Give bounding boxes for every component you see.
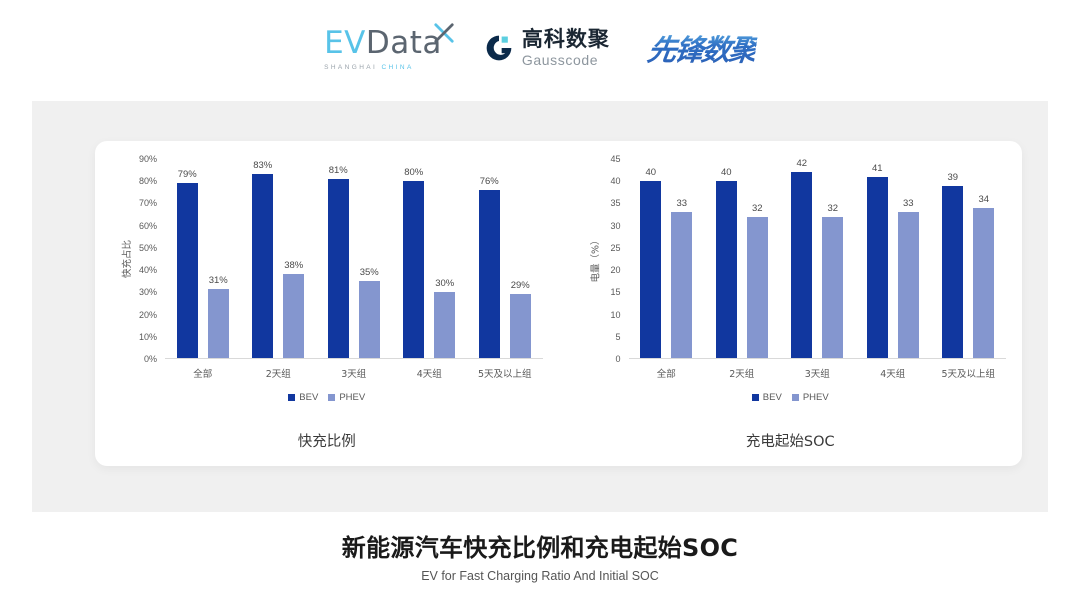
bar-value-label: 40 xyxy=(721,167,732,178)
bar-value-label: 38% xyxy=(284,260,303,271)
bar-value-label: 32 xyxy=(827,203,838,214)
bar-value-label: 83% xyxy=(253,160,272,171)
bar-value-label: 34 xyxy=(978,194,989,205)
charts-container: 快充占比 90%80%70%60%50%40%30%20%10%0% 79%31… xyxy=(95,141,1022,466)
bar-group: 4232 xyxy=(780,159,856,358)
bar-phev[interactable]: 35% xyxy=(359,159,380,358)
legend-label-phev: PHEV xyxy=(803,392,829,403)
evdata-sublabel-china: CHINA xyxy=(381,64,413,71)
x-labels-left: 全部2天组3天组4天组5天及以上组 xyxy=(165,366,543,380)
bar-bev[interactable]: 79% xyxy=(177,159,198,358)
bar-phev[interactable]: 29% xyxy=(510,159,531,358)
xianfeng-shuju-logo: 先锋数聚 xyxy=(645,27,759,69)
chart-plot-area-left: 快充占比 90%80%70%60%50%40%30%20%10%0% 79%31… xyxy=(105,159,549,359)
x-axis-label: 2天组 xyxy=(241,366,317,380)
bar-value-label: 42 xyxy=(796,158,807,169)
y-tick-label: 70% xyxy=(139,198,157,208)
legend-swatch-phev-icon xyxy=(328,394,335,401)
legend-item-bev[interactable]: BEV xyxy=(752,392,782,403)
bar-rect xyxy=(403,181,424,358)
bar-value-label: 40 xyxy=(645,167,656,178)
legend-label-phev: PHEV xyxy=(339,392,365,403)
y-tick-label: 40% xyxy=(139,265,157,275)
gausscode-wordmark: 高科数聚 Gausscode xyxy=(522,29,610,67)
bar-value-label: 76% xyxy=(480,176,499,187)
bar-rect xyxy=(434,292,455,358)
gausscode-logo: 高科数聚 Gausscode xyxy=(484,29,610,67)
header-logo-bar: EVData SHANGHAI CHINA 高科数聚 Gausscode 先锋数… xyxy=(0,0,1080,96)
y-tick-label: 40 xyxy=(610,176,620,186)
evdata-word-ev: EV xyxy=(324,28,366,59)
legend-left: BEV PHEV xyxy=(105,392,549,403)
bar-rect xyxy=(252,174,273,358)
bar-bev[interactable]: 83% xyxy=(252,159,273,358)
bar-rect xyxy=(973,208,994,358)
y-tick-label: 5 xyxy=(615,332,620,342)
bar-bev[interactable]: 40 xyxy=(716,159,737,358)
y-tick-label: 35 xyxy=(610,198,620,208)
legend-label-bev: BEV xyxy=(763,392,782,403)
evdata-logo: EVData SHANGHAI CHINA xyxy=(324,26,442,71)
bar-group: 3934 xyxy=(931,159,1007,358)
bar-group: 83%38% xyxy=(241,159,317,358)
page-title: 新能源汽车快充比例和充电起始SOC xyxy=(0,528,1080,563)
x-axis-label: 3天组 xyxy=(780,366,856,380)
evdata-x-icon xyxy=(433,22,455,44)
gausscode-g-icon xyxy=(484,33,514,63)
chart-caption-right: 充电起始SOC xyxy=(569,430,1013,451)
bar-group: 4033 xyxy=(629,159,705,358)
legend-swatch-phev-icon xyxy=(792,394,799,401)
x-axis-label: 5天及以上组 xyxy=(467,366,543,380)
y-tick-label: 10 xyxy=(610,310,620,320)
bar-rect xyxy=(791,172,812,358)
legend-item-bev[interactable]: BEV xyxy=(288,392,318,403)
bar-bev[interactable]: 81% xyxy=(328,159,349,358)
chart-plot-area-right: 电量（%） 454035302520151050 403340324232413… xyxy=(569,159,1013,359)
bar-group: 81%35% xyxy=(316,159,392,358)
legend-swatch-bev-icon xyxy=(288,394,295,401)
bar-rect xyxy=(942,186,963,358)
bar-value-label: 32 xyxy=(752,203,763,214)
bar-group: 80%30% xyxy=(392,159,468,358)
bar-bev[interactable]: 40 xyxy=(640,159,661,358)
evdata-sublabel-shanghai: SHANGHAI xyxy=(324,64,377,71)
x-axis-label: 4天组 xyxy=(392,366,468,380)
bar-groups-right: 40334032423241333934 xyxy=(629,159,1007,358)
gausscode-cn-name: 高科数聚 xyxy=(522,29,610,50)
bar-rect xyxy=(359,281,380,358)
y-tick-label: 20 xyxy=(610,265,620,275)
bar-value-label: 35% xyxy=(360,267,379,278)
bar-rect xyxy=(822,217,843,359)
y-tick-label: 45 xyxy=(610,154,620,164)
bar-value-label: 29% xyxy=(511,280,530,291)
bar-phev[interactable]: 34 xyxy=(973,159,994,358)
bars-plot-right: 40334032423241333934 xyxy=(629,159,1007,359)
chart-fast-charging-ratio: 快充占比 90%80%70%60%50%40%30%20%10%0% 79%31… xyxy=(95,141,559,466)
y-tick-label: 30 xyxy=(610,221,620,231)
y-tick-label: 60% xyxy=(139,221,157,231)
chart-caption-left: 快充比例 xyxy=(105,430,549,451)
legend-swatch-bev-icon xyxy=(752,394,759,401)
bar-rect xyxy=(479,190,500,358)
y-tick-label: 90% xyxy=(139,154,157,164)
bar-groups-left: 79%31%83%38%81%35%80%30%76%29% xyxy=(165,159,543,358)
bar-rect xyxy=(510,294,531,358)
bar-rect xyxy=(328,179,349,358)
bar-bev[interactable]: 41 xyxy=(867,159,888,358)
bar-value-label: 41 xyxy=(872,163,883,174)
bar-phev[interactable]: 31% xyxy=(208,159,229,358)
charts-panel: 快充占比 90%80%70%60%50%40%30%20%10%0% 79%31… xyxy=(32,101,1048,512)
bar-rect xyxy=(283,274,304,358)
bar-value-label: 79% xyxy=(178,169,197,180)
bar-group: 79%31% xyxy=(165,159,241,358)
bar-group: 76%29% xyxy=(467,159,543,358)
chart-initial-soc: 电量（%） 454035302520151050 403340324232413… xyxy=(559,141,1023,466)
bar-value-label: 30% xyxy=(435,278,454,289)
bar-bev[interactable]: 80% xyxy=(403,159,424,358)
x-axis-label: 4天组 xyxy=(855,366,931,380)
evdata-wordmark: EVData xyxy=(324,28,442,59)
bar-phev[interactable]: 33 xyxy=(898,159,919,358)
y-tick-label: 25 xyxy=(610,243,620,253)
bar-rect xyxy=(898,212,919,358)
bar-rect xyxy=(671,212,692,358)
bar-group: 4032 xyxy=(704,159,780,358)
bar-bev[interactable]: 76% xyxy=(479,159,500,358)
bar-rect xyxy=(716,181,737,358)
bar-group: 4133 xyxy=(855,159,931,358)
x-axis-label: 全部 xyxy=(629,366,705,380)
y-tick-label: 15 xyxy=(610,287,620,297)
bar-rect xyxy=(747,217,768,359)
footer-titles: 新能源汽车快充比例和充电起始SOC EV for Fast Charging R… xyxy=(0,528,1080,583)
x-labels-right: 全部2天组3天组4天组5天及以上组 xyxy=(629,366,1007,380)
evdata-sublabel: SHANGHAI CHINA xyxy=(324,64,414,71)
bars-plot-left: 79%31%83%38%81%35%80%30%76%29% xyxy=(165,159,543,359)
bar-phev[interactable]: 38% xyxy=(283,159,304,358)
bar-rect xyxy=(640,181,661,358)
bar-rect xyxy=(208,289,229,358)
y-tick-label: 20% xyxy=(139,310,157,320)
bar-value-label: 39 xyxy=(947,172,958,183)
legend-right: BEV PHEV xyxy=(569,392,1013,403)
legend-item-phev[interactable]: PHEV xyxy=(792,392,829,403)
bar-bev[interactable]: 42 xyxy=(791,159,812,358)
bar-rect xyxy=(867,177,888,358)
bar-value-label: 31% xyxy=(209,275,228,286)
gausscode-en-name: Gausscode xyxy=(522,53,610,67)
bar-bev[interactable]: 39 xyxy=(942,159,963,358)
bar-value-label: 33 xyxy=(903,198,914,209)
bar-value-label: 33 xyxy=(676,198,687,209)
x-axis-label: 3天组 xyxy=(316,366,392,380)
bar-value-label: 81% xyxy=(329,165,348,176)
y-tick-label: 0 xyxy=(615,354,620,364)
x-axis-label: 2天组 xyxy=(704,366,780,380)
y-tick-label: 80% xyxy=(139,176,157,186)
y-tick-label: 50% xyxy=(139,243,157,253)
evdata-word-data: Data xyxy=(366,28,442,59)
charts-card: 快充占比 90%80%70%60%50%40%30%20%10%0% 79%31… xyxy=(95,141,1022,466)
bar-rect xyxy=(177,183,198,358)
bar-phev[interactable]: 32 xyxy=(747,159,768,358)
legend-label-bev: BEV xyxy=(299,392,318,403)
page-subtitle: EV for Fast Charging Ratio And Initial S… xyxy=(0,569,1080,583)
bar-phev[interactable]: 33 xyxy=(671,159,692,358)
y-ticks-right: 454035302520151050 xyxy=(587,159,625,359)
y-ticks-left: 90%80%70%60%50%40%30%20%10%0% xyxy=(123,159,161,359)
bar-phev[interactable]: 32 xyxy=(822,159,843,358)
y-tick-label: 30% xyxy=(139,287,157,297)
bar-phev[interactable]: 30% xyxy=(434,159,455,358)
x-axis-label: 全部 xyxy=(165,366,241,380)
bar-value-label: 80% xyxy=(404,167,423,178)
x-axis-label: 5天及以上组 xyxy=(931,366,1007,380)
y-tick-label: 10% xyxy=(139,332,157,342)
y-tick-label: 0% xyxy=(144,354,157,364)
legend-item-phev[interactable]: PHEV xyxy=(328,392,365,403)
